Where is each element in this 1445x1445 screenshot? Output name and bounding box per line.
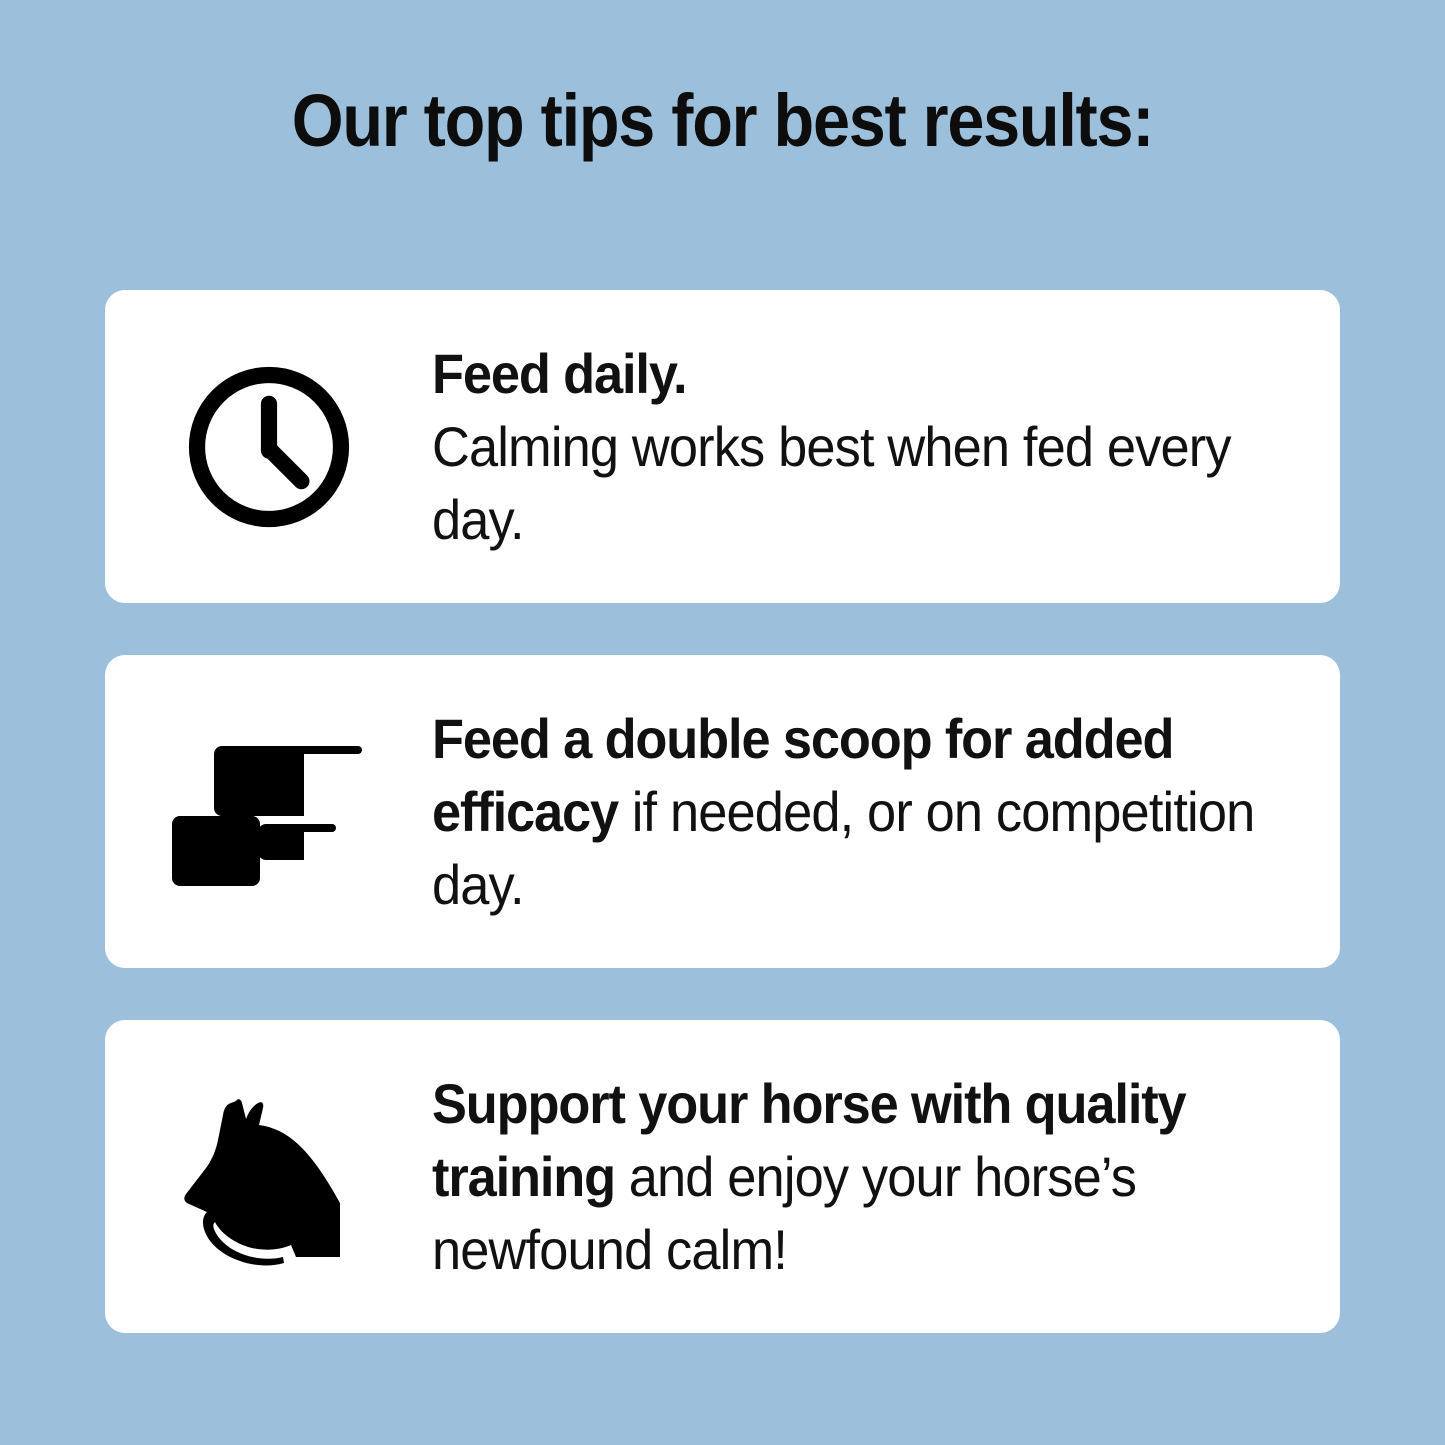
- tip-card-quality-training: Support your horse with quality training…: [105, 1020, 1340, 1333]
- page-title: Our top tips for best results:: [72, 78, 1373, 164]
- tip-text-cell: Feed a double scoop for added efficacy i…: [432, 702, 1340, 921]
- tips-poster: Our top tips for best results: Feed dail…: [0, 0, 1445, 1445]
- double-scoop-icon: [166, 732, 372, 892]
- clock-icon: [179, 357, 359, 537]
- tip-icon-cell: [105, 290, 432, 603]
- tip-card-feed-daily: Feed daily.Calming works best when fed e…: [105, 290, 1340, 603]
- tip-text-cell: Support your horse with quality training…: [432, 1067, 1340, 1286]
- tip-text: Support your horse with quality training…: [432, 1067, 1310, 1286]
- tip-icon-cell: [105, 655, 432, 968]
- tip-text: Feed daily.Calming works best when fed e…: [432, 337, 1310, 556]
- tip-bold-text: Feed daily.: [432, 342, 686, 405]
- tip-icon-cell: [105, 1020, 432, 1333]
- tip-rest-text: Calming works best when fed every day.: [432, 415, 1231, 551]
- tip-text-cell: Feed daily.Calming works best when fed e…: [432, 337, 1340, 556]
- horse-head-icon: [174, 1084, 364, 1269]
- tip-card-double-scoop: Feed a double scoop for added efficacy i…: [105, 655, 1340, 968]
- tip-text: Feed a double scoop for added efficacy i…: [432, 702, 1310, 921]
- tips-card-list: Feed daily.Calming works best when fed e…: [105, 290, 1340, 1333]
